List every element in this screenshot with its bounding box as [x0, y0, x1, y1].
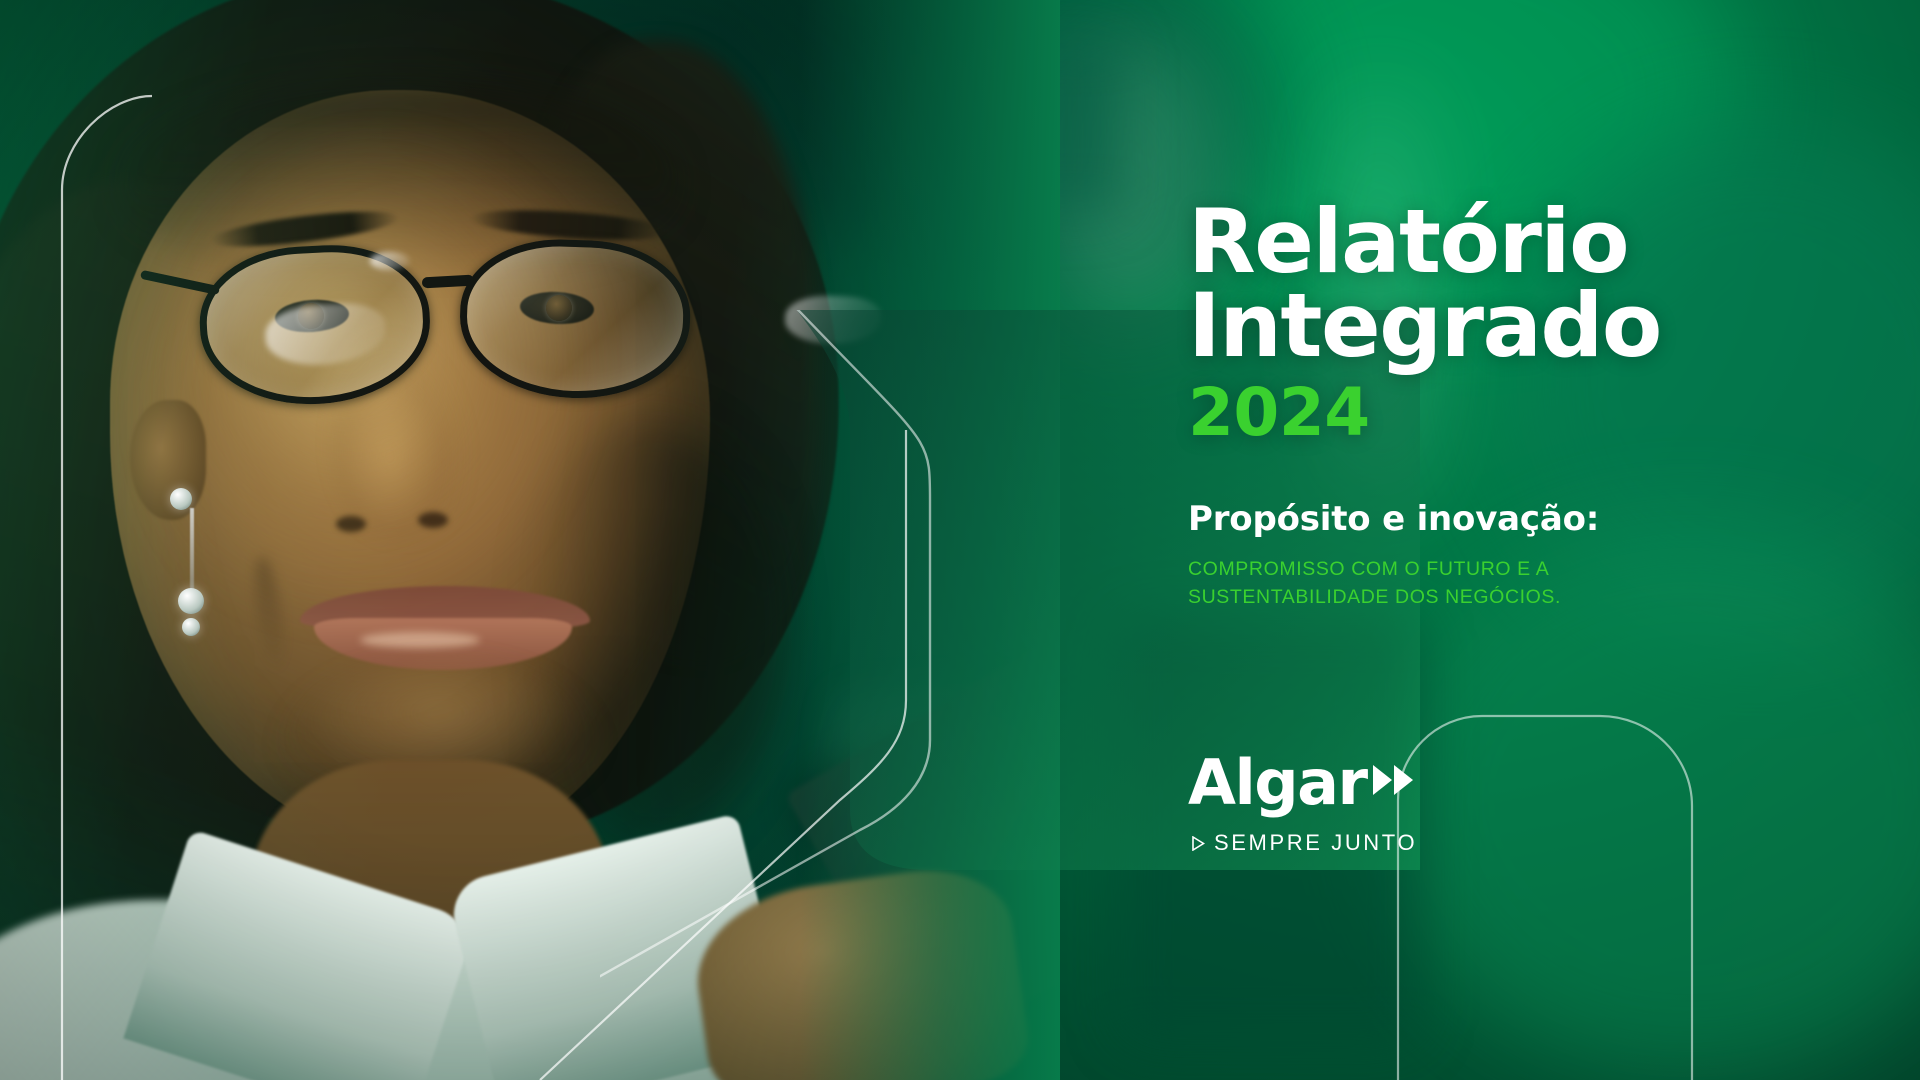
title-line-2: Integrado [1188, 284, 1808, 368]
report-cover: Relatório Integrado 2024 Propósito e ino… [0, 0, 1920, 1080]
report-year: 2024 [1188, 375, 1808, 451]
brand-name: Algar [1188, 752, 1367, 814]
page-title: Relatório Integrado 2024 [1188, 200, 1808, 451]
brand-logo: Algar SEMPRE JUNTO [1188, 752, 1518, 856]
tagline-line-1: COMPROMISSO COM O FUTURO E A [1188, 558, 1549, 580]
brand-slogan: SEMPRE JUNTO [1214, 830, 1417, 856]
tagline: COMPROMISSO COM O FUTURO E A SUSTENTABIL… [1188, 555, 1808, 612]
brand-wordmark: Algar [1188, 752, 1518, 814]
cover-text-block: Relatório Integrado 2024 Propósito e ino… [1188, 200, 1808, 611]
tagline-line-2: SUSTENTABILIDADE DOS NEGÓCIOS. [1188, 586, 1561, 608]
double-chevron-icon [1373, 765, 1413, 795]
chevron-outline-icon [1192, 836, 1205, 851]
subtitle: Propósito e inovação: [1188, 499, 1808, 539]
cover-photo [0, 0, 1060, 1080]
brand-slogan-row: SEMPRE JUNTO [1192, 830, 1518, 856]
